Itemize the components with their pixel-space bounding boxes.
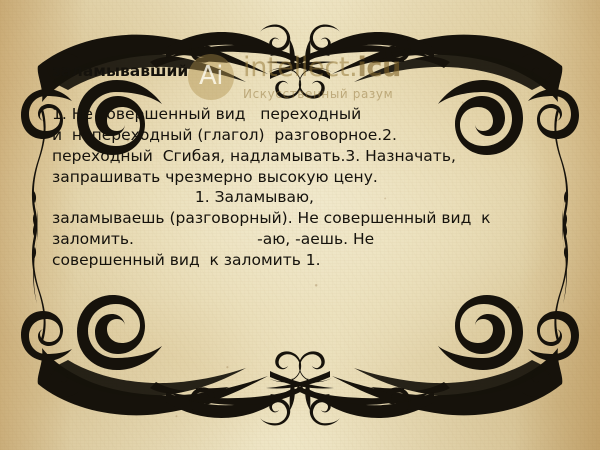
edge-swag-bottom-mirror [166,378,434,425]
definition-body: 1. Не совершенный вид переходный и непер… [52,81,552,270]
dictionary-card: Ai intellect.icu Искусственный разум зал… [0,0,600,450]
edge-vine-right [563,248,567,304]
article-content: заламывавший 1. Не совершенный вид перех… [52,62,552,271]
headword: заламывавший [52,62,552,81]
edge-swag-bottom [166,378,434,425]
edge-vine-left [33,248,37,304]
